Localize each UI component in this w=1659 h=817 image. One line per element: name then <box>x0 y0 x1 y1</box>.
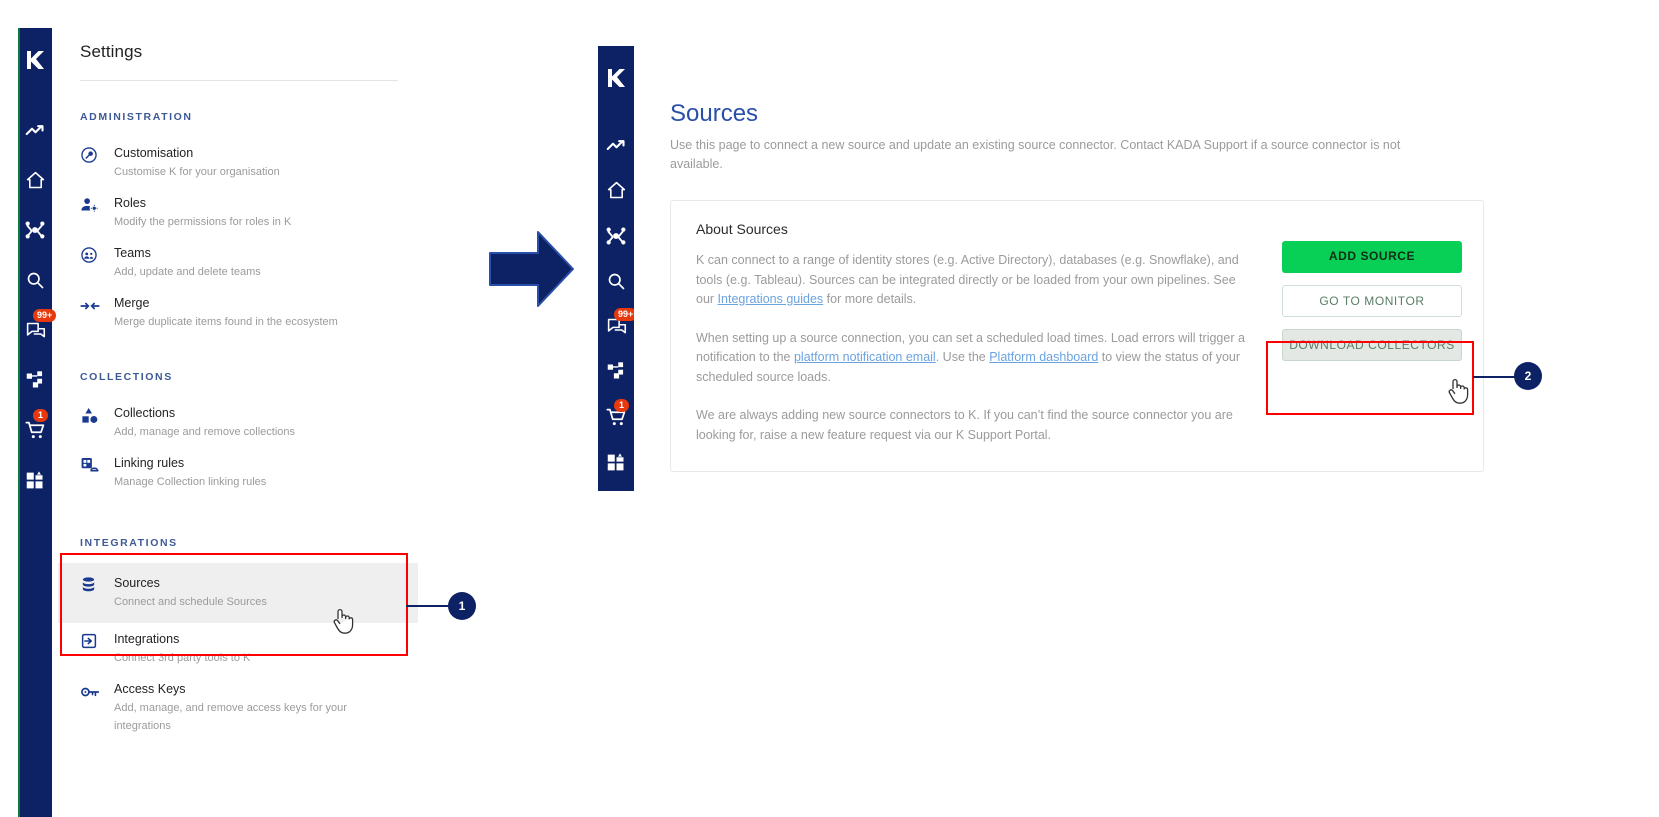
sidebar-item-network[interactable] <box>597 220 635 253</box>
k-logo-icon[interactable] <box>604 66 628 95</box>
menu-row-linking-rules[interactable]: Linking rules Manage Collection linking … <box>58 447 418 497</box>
card-paragraph-3: We are always adding new source connecto… <box>696 406 1246 445</box>
sidebar-item-home[interactable] <box>597 174 635 207</box>
wrench-circle-icon <box>80 144 110 169</box>
menu-desc: Connect and schedule Sources <box>114 596 267 608</box>
menu-title: Linking rules <box>114 456 184 470</box>
platform-dashboard-link[interactable]: Platform dashboard <box>989 350 1098 364</box>
download-collectors-button[interactable]: DOWNLOAD COLLECTORS <box>1282 329 1462 361</box>
sidebar-item-lineage[interactable] <box>597 355 635 388</box>
screenshot-root: 99+ 1 Settings ADMINISTRATION Customisat… <box>0 0 1659 817</box>
sidebar-item-dashboard[interactable] <box>16 461 54 499</box>
merge-arrows-icon <box>80 294 110 321</box>
menu-row-integrations[interactable]: Integrations Connect 3rd party tools to … <box>58 623 418 673</box>
menu-title: Customisation <box>114 146 193 160</box>
integrations-guides-link[interactable]: Integrations guides <box>718 292 824 306</box>
sidebar-item-cart[interactable]: 1 <box>16 411 54 449</box>
database-icon <box>80 574 110 598</box>
paragraph-text: for more details. <box>823 292 916 306</box>
arrow-into-box-icon <box>80 630 110 655</box>
sidebar-item-lineage[interactable] <box>16 361 54 399</box>
page-title: Settings <box>58 28 418 62</box>
menu-desc: Customise K for your organisation <box>114 166 280 178</box>
sidebar-item-chat[interactable]: 99+ <box>16 311 54 349</box>
menu-row-roles[interactable]: Roles Modify the permissions for roles i… <box>58 187 418 237</box>
menu-desc: Manage Collection linking rules <box>114 476 266 488</box>
menu-title: Sources <box>114 576 160 590</box>
menu-title: Merge <box>114 296 149 310</box>
menu-row-customisation[interactable]: Customisation Customise K for your organ… <box>58 137 418 187</box>
go-to-monitor-button[interactable]: GO TO MONITOR <box>1282 285 1462 317</box>
card-paragraph-2: When setting up a source connection, you… <box>696 329 1246 388</box>
sidebar-item-dashboard[interactable] <box>597 446 635 479</box>
card-body: K can connect to a range of identity sto… <box>671 237 1246 445</box>
transition-arrow-icon <box>487 228 577 315</box>
k-logo-icon[interactable] <box>23 48 47 77</box>
menu-row-merge[interactable]: Merge Merge duplicate items found in the… <box>58 287 418 337</box>
sidebar-item-chat[interactable]: 99+ <box>597 310 635 343</box>
menu-title: Access Keys <box>114 682 186 696</box>
menu-row-access-keys[interactable]: Access Keys Add, manage, and remove acce… <box>58 673 418 741</box>
chat-badge: 99+ <box>33 309 56 322</box>
key-icon <box>80 680 110 707</box>
menu-row-teams[interactable]: Teams Add, update and delete teams <box>58 237 418 287</box>
step-badge-1: 1 <box>448 592 476 620</box>
menu-desc: Connect 3rd party tools to K <box>114 652 250 664</box>
left-nav-rail: 99+ 1 <box>18 28 52 817</box>
card-action-buttons: ADD SOURCE GO TO MONITOR DOWNLOAD COLLEC… <box>1282 241 1462 373</box>
menu-desc: Merge duplicate items found in the ecosy… <box>114 316 338 328</box>
menu-title: Teams <box>114 246 151 260</box>
about-sources-card: About Sources K can connect to a range o… <box>670 200 1484 472</box>
right-nav-rail: 99+ 1 <box>598 46 634 491</box>
sidebar-item-home[interactable] <box>16 161 54 199</box>
card-title: About Sources <box>671 201 1483 237</box>
sources-page-title: Sources <box>634 46 1659 128</box>
sidebar-item-search[interactable] <box>597 265 635 298</box>
connector-line-step-1 <box>406 605 454 607</box>
section-label-integrations: INTEGRATIONS <box>58 537 418 549</box>
sidebar-item-trends[interactable] <box>597 129 635 162</box>
shapes-icon <box>80 404 110 430</box>
sources-page-subtitle: Use this page to connect a new source an… <box>634 128 1434 174</box>
sources-panel: Sources Use this page to connect a new s… <box>634 46 1659 817</box>
settings-panel: Settings ADMINISTRATION Customisation Cu… <box>58 28 418 817</box>
menu-desc: Modify the permissions for roles in K <box>114 216 291 228</box>
menu-desc: Add, manage and remove collections <box>114 426 295 438</box>
sidebar-item-network[interactable] <box>16 211 54 249</box>
person-gear-icon <box>80 194 110 220</box>
add-source-button[interactable]: ADD SOURCE <box>1282 241 1462 273</box>
menu-title: Integrations <box>114 632 179 646</box>
sidebar-item-search[interactable] <box>16 261 54 299</box>
menu-title: Collections <box>114 406 175 420</box>
menu-row-sources[interactable]: Sources Connect and schedule Sources <box>58 563 418 623</box>
cart-badge: 1 <box>33 409 48 422</box>
menu-row-collections[interactable]: Collections Add, manage and remove colle… <box>58 397 418 447</box>
menu-desc: Add, update and delete teams <box>114 266 261 278</box>
menu-desc: Add, manage, and remove access keys for … <box>114 702 347 732</box>
teams-circle-icon <box>80 244 110 269</box>
section-label-collections: COLLECTIONS <box>58 371 418 383</box>
menu-title: Roles <box>114 196 146 210</box>
card-paragraph-1: K can connect to a range of identity sto… <box>696 251 1246 310</box>
sidebar-item-trends[interactable] <box>16 111 54 149</box>
paragraph-text: . Use the <box>936 350 990 364</box>
platform-notification-email-link[interactable]: platform notification email <box>794 350 936 364</box>
section-label-administration: ADMINISTRATION <box>58 111 418 123</box>
sidebar-item-cart[interactable]: 1 <box>597 401 635 434</box>
cart-badge: 1 <box>614 399 629 412</box>
connector-line-step-2 <box>1473 376 1515 378</box>
step-badge-2: 2 <box>1514 362 1542 390</box>
link-rules-icon <box>80 454 110 480</box>
